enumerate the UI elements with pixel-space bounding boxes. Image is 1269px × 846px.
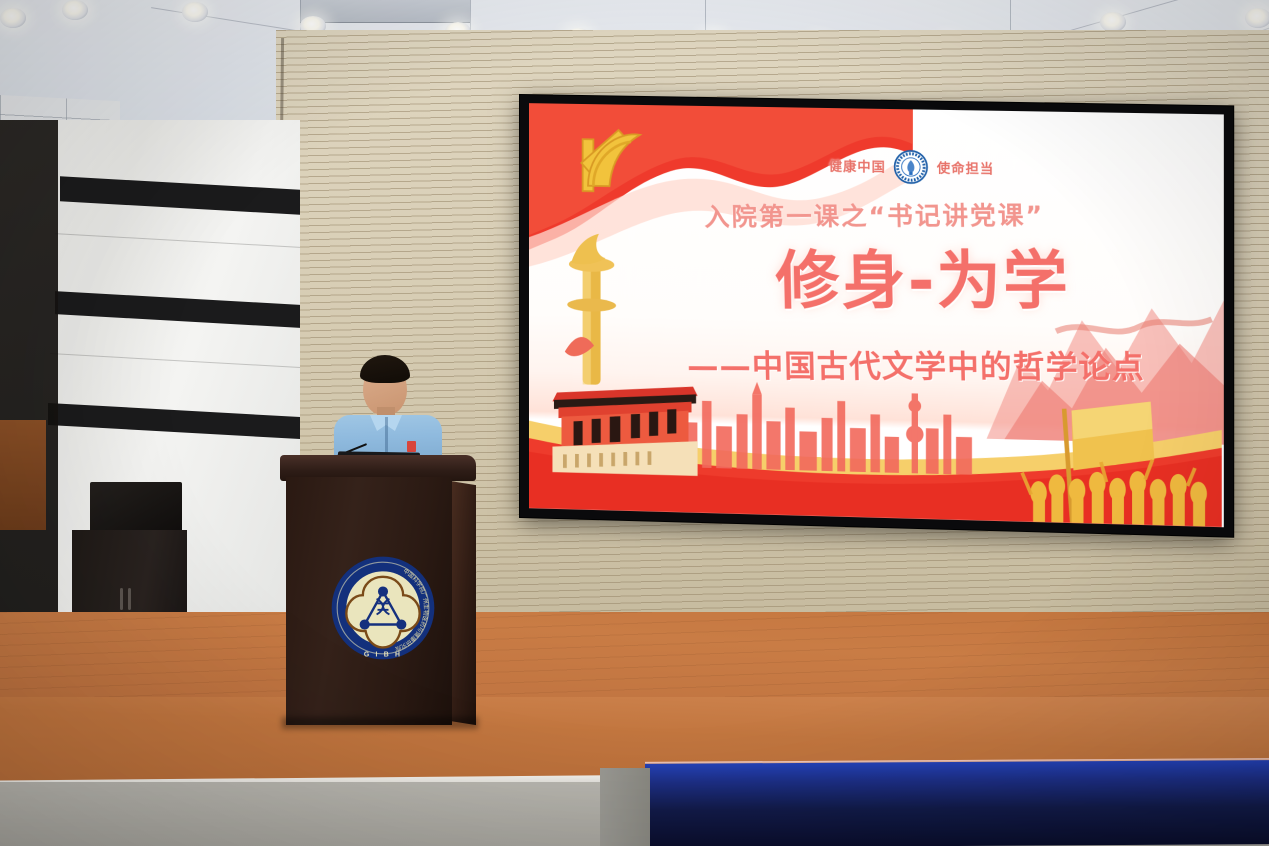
led-presentation-screen: 健康中国 使命担当 入院第一课之“书记讲党课” [520, 95, 1233, 537]
speaker-hair [360, 355, 410, 383]
health-china-circular-emblem [894, 149, 929, 184]
wall-dark-band [60, 176, 300, 214]
health-china-right-text: 使命担当 [937, 158, 994, 178]
ceiling-spotlight [1100, 12, 1126, 32]
slide-canvas: 健康中国 使命担当 入院第一课之“书记讲党课” [529, 103, 1224, 527]
ceiling-spotlight [182, 2, 208, 22]
lecture-hall-photo: 健康中国 使命担当 入院第一课之“书记讲党课” [0, 0, 1269, 846]
tiananmen-gate-illustration [536, 367, 714, 477]
ceiling-vent [300, 0, 470, 23]
slide-title: 修身-为学 [652, 249, 1197, 313]
gibh-acronym: G I B H [364, 652, 402, 659]
health-china-left-text: 健康中国 [829, 156, 886, 176]
ceiling-spotlight [62, 0, 88, 20]
podium-shadow [282, 717, 478, 729]
golden-monument-relief-figures [1013, 386, 1224, 527]
speaker-person [330, 355, 446, 465]
gibh-institute-emblem: G I B H 中国科学院广州生物医药与健康研究院 [328, 553, 438, 663]
auditorium-seat-back [645, 760, 1269, 846]
health-china-slogan-row: 健康中国 使命担当 [755, 141, 1068, 192]
red-lapel-badge [407, 441, 416, 452]
podium-side-panel [450, 481, 476, 725]
ceiling-spotlight [1245, 8, 1269, 28]
ceiling-spotlight [0, 8, 26, 28]
cpc-hammer-sickle-emblem [553, 116, 663, 207]
seat-support-post [600, 768, 650, 846]
wall-dark-band [55, 291, 300, 328]
wall-dark-band [48, 403, 300, 439]
podium-front-panel: G I B H 中国科学院广州生物医药与健康研究院 [286, 477, 452, 725]
speaking-podium: G I B H 中国科学院广州生物医药与健康研究院 [268, 455, 486, 727]
slide-kicker-text: 入院第一课之“书记讲党课” [583, 195, 1167, 234]
